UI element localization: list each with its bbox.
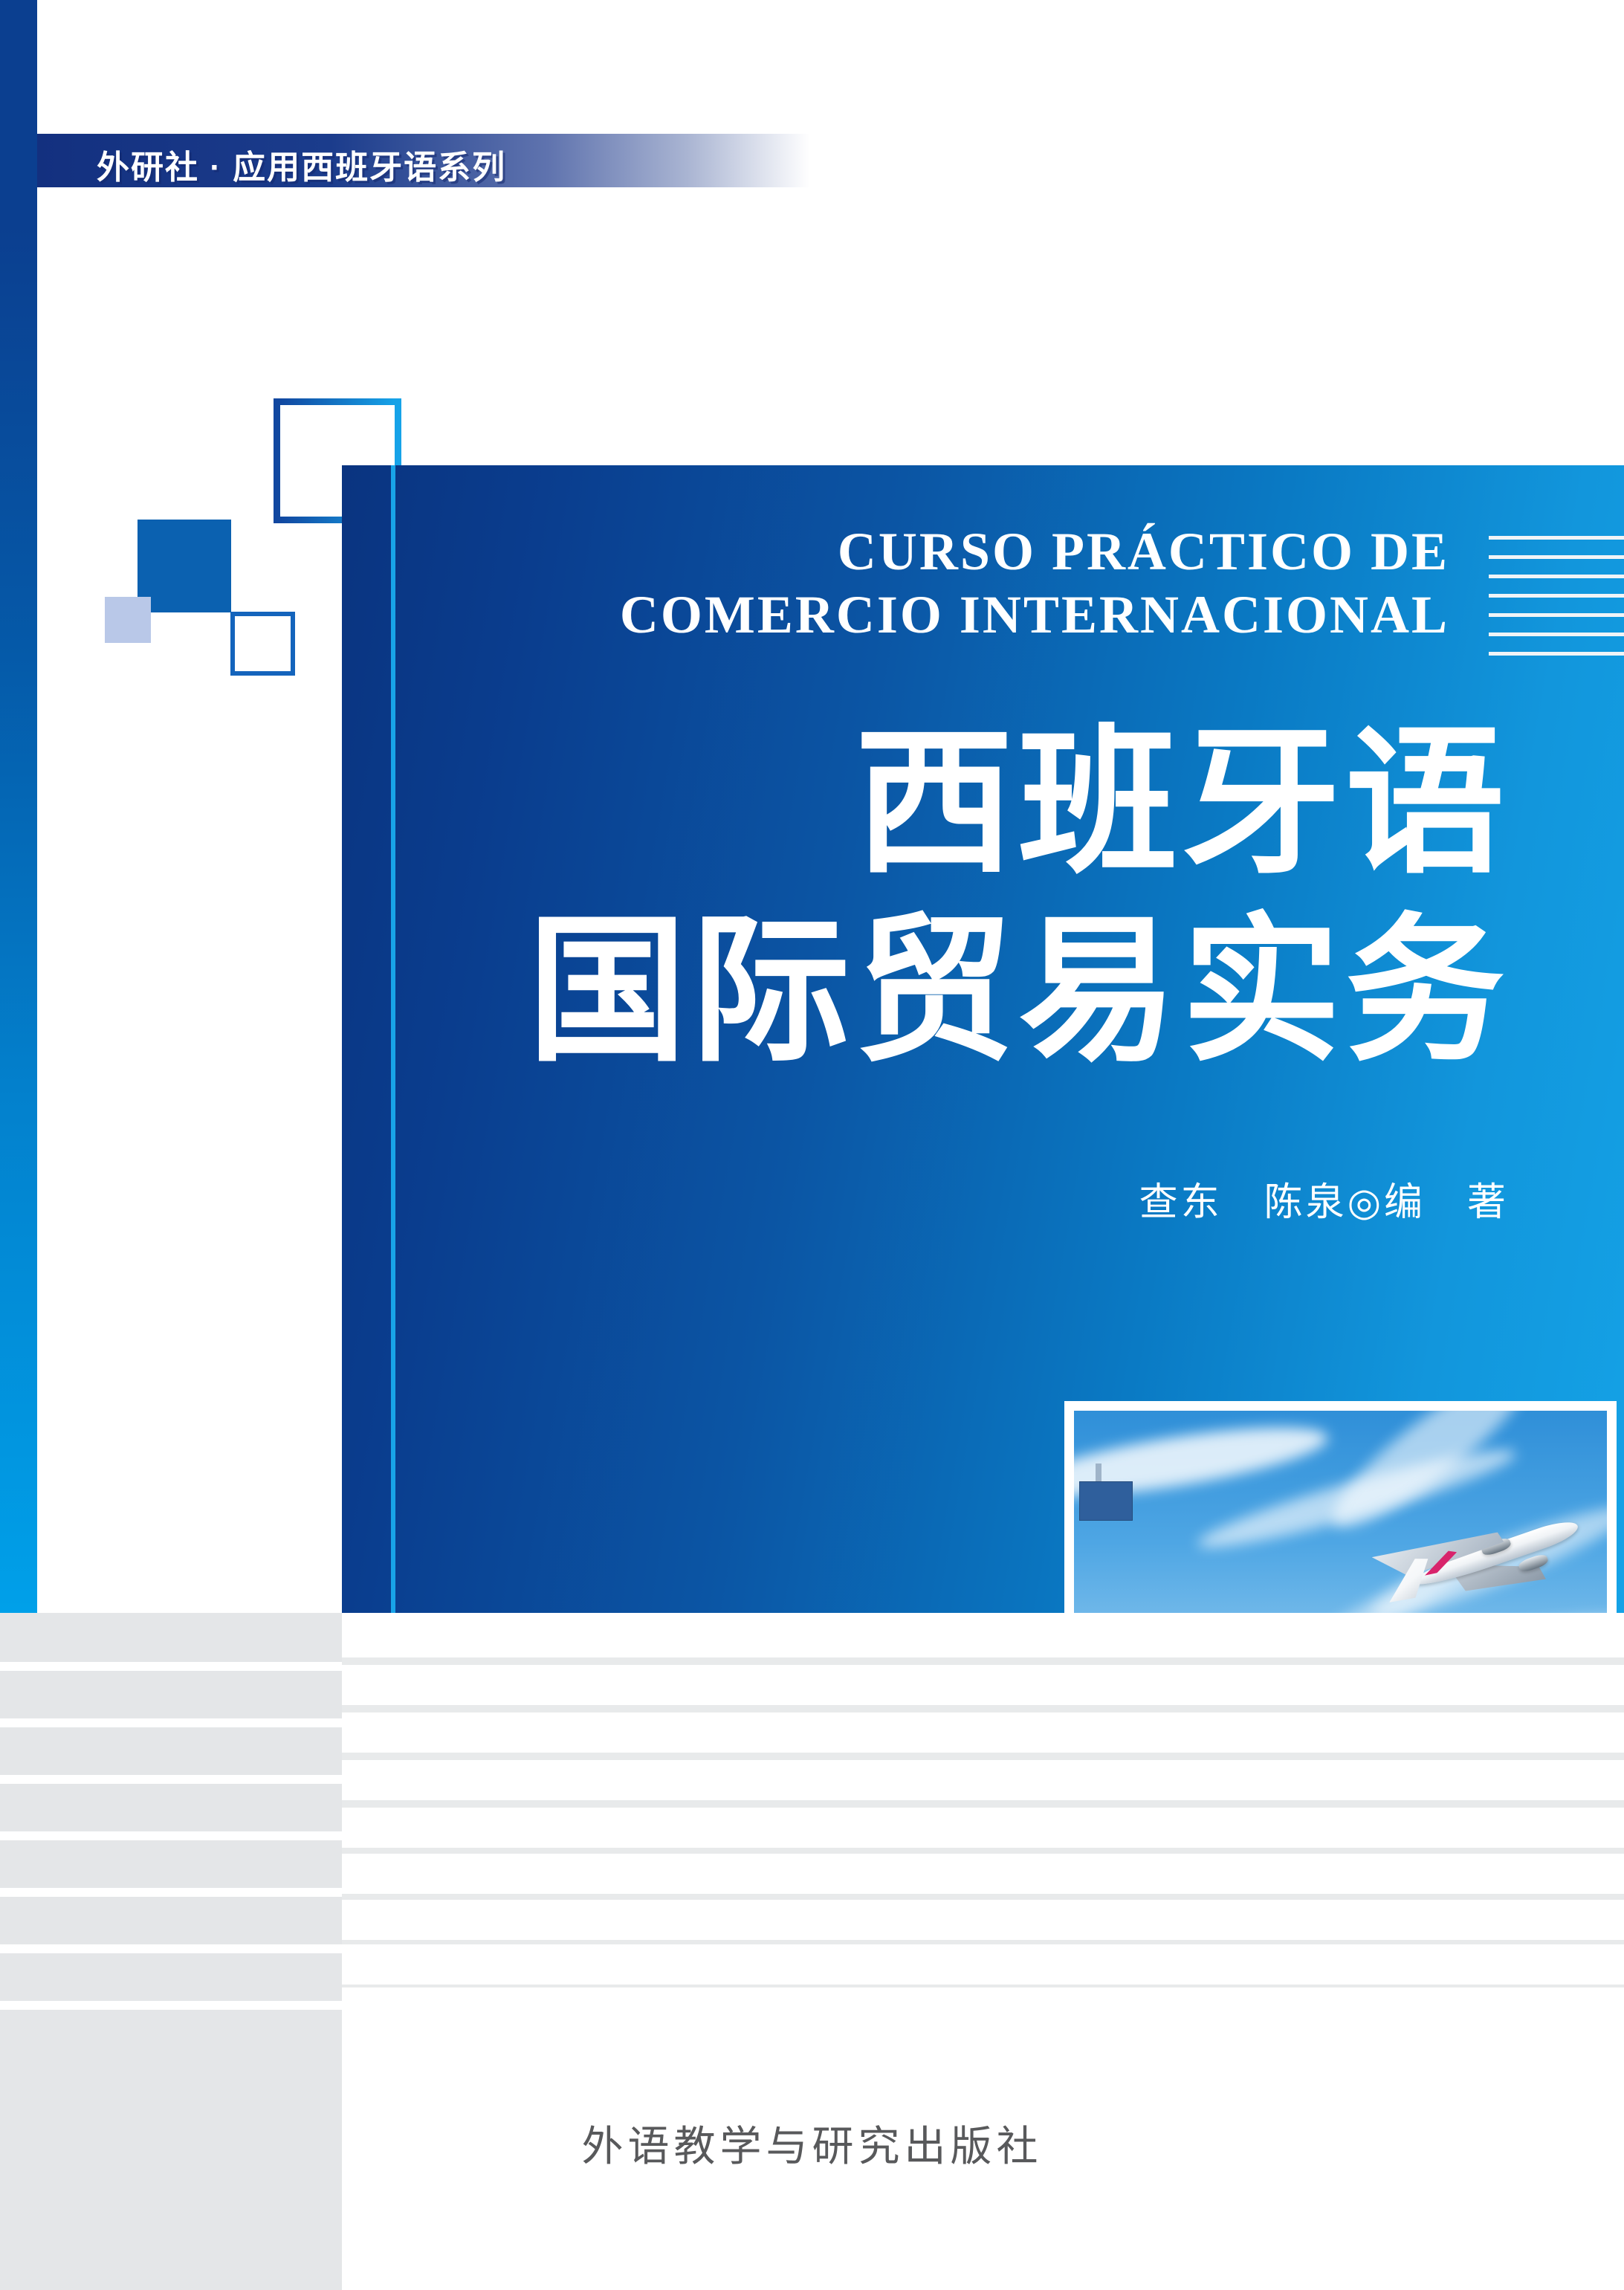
decor-stripe [0,1953,342,2001]
authors-line: 查东 陈泉◎编 著 [743,1171,1509,1226]
spanish-title-line-2: COMERCIO INTERNACIONAL [386,583,1449,647]
rule-line [1489,575,1624,578]
decor-stripe [342,1800,1624,1808]
chinese-title-line-2: 国际贸易实务 [386,898,1509,1086]
decor-stripe [342,1940,1624,1944]
decorative-square-outline-small [230,612,295,676]
decor-stripe [342,1894,1624,1900]
decor-stripe [342,1753,1624,1760]
decor-stripe [0,1671,342,1718]
spanish-title: CURSO PRÁCTICO DE COMERCIO INTERNACIONAL [386,520,1449,647]
decor-stripe [342,1705,1624,1712]
decorative-square-solid-medium [138,520,231,612]
decorative-rule-stack [1489,536,1624,659]
series-label: 外研社 · 应用西班牙语系列 [97,140,506,188]
book-cover: 外研社 · 应用西班牙语系列 CURSO PRÁCTICO DE COMERCI… [0,0,1624,2290]
decor-stripe [0,1840,342,1888]
decor-stripe [342,1848,1624,1854]
decor-stripe [0,1784,342,1831]
rule-line [1489,594,1624,598]
rule-line [1489,633,1624,636]
bottom-stripes-left [0,1613,342,2290]
left-spine-bar [0,0,37,1613]
chinese-title-line-1: 西班牙语 [386,710,1509,898]
decor-stripe [342,1657,1624,1665]
spanish-title-line-1: CURSO PRÁCTICO DE [386,520,1449,583]
rule-line [1489,613,1624,617]
chinese-title: 西班牙语 国际贸易实务 [386,710,1509,1085]
publisher-name: 外语教学与研究出版社 [0,2113,1624,2173]
decor-stripe [0,1727,342,1775]
cargo-airplane [1367,1498,1596,1631]
decor-stripe [342,1985,1624,1987]
decor-stripe [0,1897,342,1944]
ship-bridge [1079,1481,1133,1521]
decorative-square-solid-pale [105,597,151,643]
bottom-stripes-right [342,1613,1624,2290]
rule-line [1489,555,1624,559]
rule-line [1489,652,1624,656]
rule-line [1489,536,1624,540]
decor-stripe [0,1613,342,1662]
